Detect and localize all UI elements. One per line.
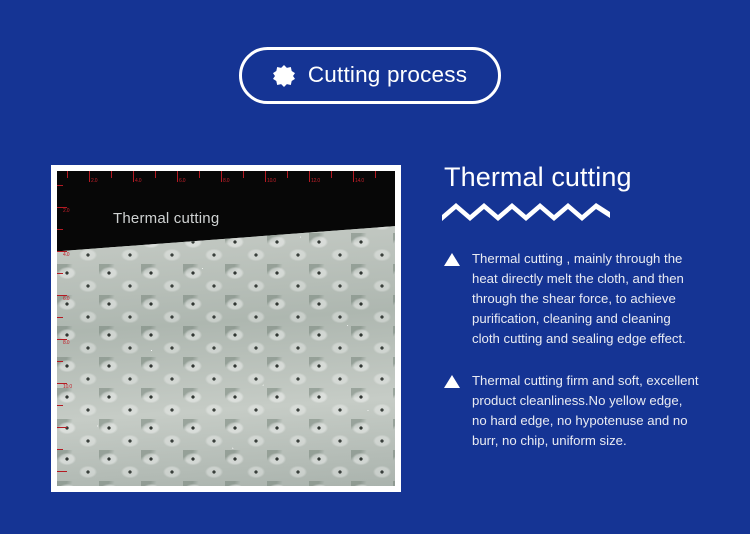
list-item: Thermal cutting , mainly through the hea… bbox=[444, 249, 700, 349]
zigzag-divider-icon bbox=[442, 201, 610, 221]
photo-caption-label: Thermal cutting bbox=[113, 210, 219, 227]
list-item: Thermal cutting firm and soft, excellent… bbox=[444, 371, 700, 451]
header-band: Cutting process bbox=[0, 0, 750, 145]
info-heading: Thermal cutting bbox=[444, 163, 700, 193]
thermal-cutting-photo-frame: 2.0 4.0 6.0 8.0 10.0 12.0 14.0 2.0 4.0 bbox=[51, 165, 401, 492]
feature-bullet-list: Thermal cutting , mainly through the hea… bbox=[444, 249, 700, 452]
cutting-process-title-label: Cutting process bbox=[308, 64, 467, 87]
triangle-up-icon bbox=[444, 253, 460, 266]
thermal-cutting-info-column: Thermal cutting Thermal cutting , mainly… bbox=[444, 163, 700, 451]
thermal-cutting-photo: 2.0 4.0 6.0 8.0 10.0 12.0 14.0 2.0 4.0 bbox=[57, 171, 395, 486]
eight-point-star-icon bbox=[273, 65, 295, 87]
cutting-process-title-pill[interactable]: Cutting process bbox=[239, 47, 501, 104]
bullet-text: Thermal cutting firm and soft, excellent… bbox=[472, 373, 698, 448]
bullet-text: Thermal cutting , mainly through the hea… bbox=[472, 251, 686, 346]
triangle-up-icon bbox=[444, 375, 460, 388]
